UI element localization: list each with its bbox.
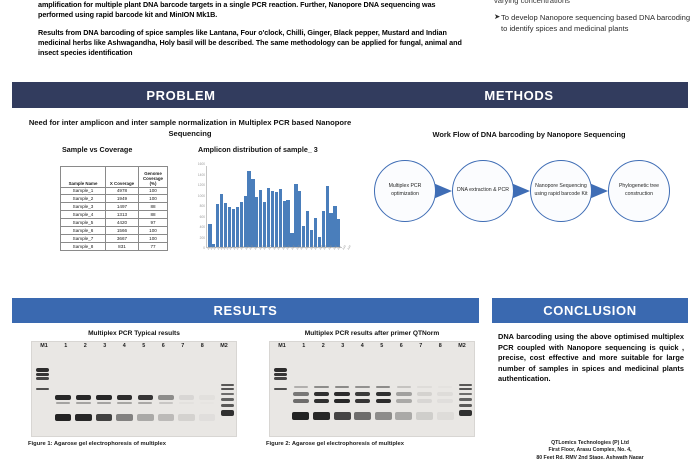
table-cell-name: Sample_2: [61, 195, 106, 203]
chart-bar: [236, 207, 239, 247]
gel-lane-label: M2: [212, 343, 236, 353]
gel-band: [437, 412, 454, 420]
chart-bar: [329, 213, 332, 247]
chart-y-tick: 1200: [198, 183, 205, 187]
gel-band: [438, 386, 452, 388]
gel-image-2: M112345678M2: [269, 341, 475, 437]
table-cell-name: Sample_6: [61, 226, 106, 234]
gel-lane-label: 1: [56, 343, 76, 353]
objectives-list-item: ➤ To develop Nanopore sequencing based D…: [494, 12, 694, 34]
table-cell-xcov: 1949: [106, 195, 139, 203]
chart-bar: [263, 202, 266, 247]
table-row: Sample_4131388: [61, 211, 168, 219]
table-cell-gcov: 100: [139, 187, 168, 195]
gel-lane-label: 6: [154, 343, 174, 353]
chart-bar: [283, 201, 286, 247]
gel-band: [334, 412, 351, 420]
gel-band: [221, 384, 234, 386]
table-row: Sample_21949100: [61, 195, 168, 203]
workflow-node-2: DNA extraction & PCR: [452, 160, 514, 222]
chart-bar: [333, 206, 336, 247]
gel-band: [117, 395, 132, 400]
gel-band: [75, 414, 91, 421]
chart-bar: [337, 219, 340, 247]
table-cell-xcov: 4420: [106, 219, 139, 227]
gel-band: [221, 393, 234, 395]
chart-y-tick: 1600: [198, 162, 205, 166]
gel-caption-1: Figure 1: Agarose gel electrophoresis of…: [28, 441, 246, 449]
gel-band: [397, 386, 411, 388]
table-cell-name: Sample_7: [61, 234, 106, 242]
gel-band: [55, 414, 71, 421]
section-header-methods: METHODS: [350, 88, 688, 103]
table-cell-name: Sample_4: [61, 211, 106, 219]
gel-band: [294, 386, 308, 388]
gel-band: [376, 392, 391, 396]
gel-band: [292, 412, 309, 420]
gcov-line-3: (%): [150, 181, 157, 186]
chart-y-tick: 200: [200, 236, 205, 240]
gel-band: [395, 412, 412, 420]
arrow-bullet-icon: ➤: [494, 12, 500, 23]
table-row: Sample_61566100: [61, 226, 168, 234]
organization-address: QTLomics Technologies (P) Ltd First Floo…: [492, 440, 688, 459]
gel-band: [158, 395, 173, 400]
gel-band: [221, 404, 234, 407]
table-cell-xcov: 4978: [106, 187, 139, 195]
gel-title-2: Multiplex PCR results after primer QTNor…: [258, 330, 486, 337]
gel-band: [178, 414, 194, 421]
table-cell-gcov: 100: [139, 226, 168, 234]
chart-bar: [286, 200, 289, 247]
table-cell-gcov: 88: [139, 203, 168, 211]
gel-band: [36, 377, 49, 380]
table-cell-name: Sample_3: [61, 203, 106, 211]
chart-bar: [228, 207, 231, 247]
col-header-sample-name: Sample Name: [61, 167, 106, 188]
chart-bar: [267, 188, 270, 247]
gel-lane-label: 8: [193, 343, 213, 353]
gel-band: [313, 412, 330, 420]
gel-band: [355, 386, 369, 388]
gel-band: [158, 414, 174, 421]
gel-band: [417, 392, 432, 396]
methods-title: Work Flow of DNA barcoding by Nanopore S…: [368, 130, 690, 139]
top-abstract-row: amplification for multiple plant DNA bar…: [0, 0, 700, 78]
gel-band: [376, 386, 390, 388]
gel-band: [96, 414, 112, 421]
table-cell-gcov: 88: [139, 211, 168, 219]
section-header-conclusion: CONCLUSION: [492, 298, 688, 323]
chart-y-tick: 1400: [198, 173, 205, 177]
gel-band: [116, 414, 132, 421]
gel-band: [199, 414, 215, 421]
gel-band: [355, 392, 370, 396]
chart-bar: [240, 202, 243, 247]
gel-caption-2: Figure 2: Agarose gel electrophoresis of…: [266, 441, 484, 449]
gel-band: [36, 368, 49, 372]
gel-lane-labels-1: M112345678M2: [32, 343, 236, 353]
col-header-x-coverage: X Coverage: [106, 167, 139, 188]
workflow-diagram: Multiplex PCR optimization DNA extractio…: [370, 156, 688, 230]
chart-bar: [224, 203, 227, 247]
chart-y-axis: 02004006008001000120014001600: [192, 164, 205, 248]
problem-title: Need for inter amplicon and inter sample…: [20, 118, 360, 139]
gel-band: [417, 386, 431, 388]
gel-band: [36, 373, 49, 376]
coverage-table: Sample Name X Coverage Genome Coverage (…: [60, 166, 168, 251]
gel-band: [459, 404, 472, 407]
gel-band: [76, 402, 90, 404]
gel-band: [97, 402, 111, 404]
chart-subtitle: Amplicon distribution of sample_ 3: [198, 145, 318, 154]
chart-plot-area: [206, 166, 342, 248]
gel-band: [437, 392, 452, 396]
abstract-block: amplification for multiple plant DNA bar…: [38, 0, 463, 66]
table-row: Sample_5442097: [61, 219, 168, 227]
chart-bar: [208, 224, 211, 247]
chart-bar: [255, 197, 258, 247]
gel-lane-label: 1: [294, 343, 314, 353]
table-cell-gcov: 100: [139, 195, 168, 203]
gel-lane-label: 2: [76, 343, 96, 353]
chart-bar: [216, 204, 219, 247]
chart-y-tick: 800: [200, 204, 205, 208]
table-subtitle: Sample vs Coverage: [62, 145, 132, 154]
gel-band: [375, 412, 392, 420]
chart-bar: [251, 179, 254, 247]
table-cell-name: Sample_8: [61, 242, 106, 250]
gel-band: [55, 395, 70, 400]
gel-band: [334, 392, 349, 396]
gel-band: [274, 368, 287, 372]
gel-band: [459, 410, 472, 416]
gel-band: [459, 388, 472, 390]
gel-lane-label: 4: [115, 343, 135, 353]
chart-bar: [279, 189, 282, 247]
gel-lane-label: 5: [134, 343, 154, 353]
chart-bar: [247, 171, 250, 248]
chart-y-tick: 0: [203, 246, 205, 250]
table-cell-xcov: 831: [106, 242, 139, 250]
gel-band: [179, 395, 194, 400]
gel-band: [314, 392, 329, 396]
gel-band: [459, 384, 472, 386]
gel-band: [138, 402, 152, 404]
gel-lane-label: 3: [95, 343, 115, 353]
gel-band: [293, 392, 308, 396]
gel-band: [293, 399, 308, 403]
problem-panel: Need for inter amplicon and inter sample…: [20, 118, 360, 273]
section-band-problem-methods: PROBLEM METHODS: [12, 82, 688, 108]
methods-panel: Work Flow of DNA barcoding by Nanopore S…: [368, 118, 690, 273]
chart-bar: [314, 218, 317, 247]
table-row: Sample_883177: [61, 242, 168, 250]
chart-bar: [220, 194, 223, 247]
table-cell-gcov: 97: [139, 219, 168, 227]
gel-image-1: M112345678M2: [31, 341, 237, 437]
conclusion-text: DNA barcoding using the above optimised …: [492, 332, 688, 385]
gel-band: [274, 373, 287, 376]
table-row: Sample_73667100: [61, 234, 168, 242]
gel-band: [335, 386, 349, 388]
gel-lane-label: 7: [411, 343, 431, 353]
gel-band: [376, 399, 391, 403]
gel-band: [396, 399, 411, 403]
address-line-2: First Floor, Arasu Complex, No. 4,: [492, 447, 688, 454]
objectives-block: varying concentrations ➤ To develop Nano…: [494, 0, 694, 34]
gel-band: [137, 414, 153, 421]
gel-lane-label: 5: [372, 343, 392, 353]
chart-y-tick: 1000: [198, 194, 205, 198]
section-header-problem: PROBLEM: [12, 88, 350, 103]
table-header-row: Sample Name X Coverage Genome Coverage (…: [61, 167, 168, 188]
chart-bar: [271, 191, 274, 247]
workflow-node-1: Multiplex PCR optimization: [374, 160, 436, 222]
gel-band: [36, 388, 49, 390]
workflow-node-4: Phylogenetic tree construction: [608, 160, 670, 222]
table-cell-xcov: 1313: [106, 211, 139, 219]
gel-band: [459, 398, 472, 401]
address-line-1: QTLomics Technologies (P) Ltd: [492, 440, 688, 447]
chart-bar: [275, 192, 278, 247]
chart-bar: [244, 196, 247, 247]
workflow-node-3: Nanopore Sequencing using rapid barcode …: [530, 160, 592, 222]
gel-band: [221, 410, 234, 416]
gel-band: [117, 402, 131, 404]
chart-bar: [294, 184, 297, 247]
gel-band: [459, 393, 472, 395]
gel-band: [138, 395, 153, 400]
chart-bar: [232, 209, 235, 247]
chart-x-axis: A1A2A3A4A5A6A7A8A9A10A11A12A13A14A15A16A…: [207, 248, 342, 272]
chart-bar: [298, 191, 301, 247]
gel-band: [354, 412, 371, 420]
gel-band: [314, 386, 328, 388]
table-cell-name: Sample_5: [61, 219, 106, 227]
gel-lane-label: M2: [450, 343, 474, 353]
conclusion-panel: DNA barcoding using the above optimised …: [492, 332, 688, 385]
section-header-results: RESULTS: [12, 298, 479, 323]
gel-band: [179, 402, 193, 404]
gel-lane-label: M1: [32, 343, 56, 353]
gel-lane-label: 3: [333, 343, 353, 353]
gel-band: [274, 388, 287, 390]
gel-band: [314, 399, 329, 403]
gel-band: [274, 377, 287, 380]
col-header-genome-coverage: Genome Coverage (%): [139, 167, 168, 188]
gel-lane-label: 2: [314, 343, 334, 353]
gel-band: [334, 399, 349, 403]
objectives-item-text: To develop Nanopore sequencing based DNA…: [501, 13, 690, 33]
chart-bar: [326, 186, 329, 247]
address-line-3: 80 Feet Rd, RMV 2nd Stage, Ashwath Nagar: [492, 455, 688, 459]
gel-figure-1: Multiplex PCR Typical results M112345678…: [20, 330, 248, 449]
table-cell-gcov: 77: [139, 242, 168, 250]
gel-lane-label: 8: [431, 343, 451, 353]
gel-lane-label: 6: [392, 343, 412, 353]
coverage-table-head: Sample Name X Coverage Genome Coverage (…: [61, 167, 168, 188]
gel-band: [396, 392, 411, 396]
table-cell-xcov: 3667: [106, 234, 139, 242]
gel-lane-label: 7: [173, 343, 193, 353]
gel-band: [56, 402, 70, 404]
gel-lane-label: 4: [353, 343, 373, 353]
gel-band: [221, 388, 234, 390]
abstract-paragraph-1: amplification for multiple plant DNA bar…: [38, 0, 463, 20]
table-row: Sample_3149788: [61, 203, 168, 211]
gel-lane-label: M1: [270, 343, 294, 353]
table-cell-xcov: 1497: [106, 203, 139, 211]
gel-title-1: Multiplex PCR Typical results: [20, 330, 248, 337]
gel-band: [437, 399, 452, 403]
problem-subtitles: Sample vs Coverage Amplicon distribution…: [20, 145, 360, 157]
abstract-paragraph-2: Results from DNA barcoding of spice samp…: [38, 28, 463, 58]
chart-y-tick: 600: [200, 215, 205, 219]
table-row: Sample_14978100: [61, 187, 168, 195]
objectives-clipped-line: varying concentrations: [494, 0, 694, 5]
gel-band: [200, 402, 214, 404]
chart-y-tick: 400: [200, 225, 205, 229]
gel-figure-2: Multiplex PCR results after primer QTNor…: [258, 330, 486, 449]
table-cell-name: Sample_1: [61, 187, 106, 195]
gel-band: [76, 395, 91, 400]
gel-band: [221, 398, 234, 401]
gel-band: [96, 395, 111, 400]
chart-bar: [306, 211, 309, 247]
coverage-table-body: Sample_14978100Sample_21949100Sample_314…: [61, 187, 168, 250]
table-cell-gcov: 100: [139, 234, 168, 242]
table-cell-xcov: 1566: [106, 226, 139, 234]
chart-bar: [322, 211, 325, 247]
gel-band: [159, 402, 173, 404]
amplicon-bar-chart: 02004006008001000120014001600 A1A2A3A4A5…: [192, 164, 342, 272]
gel-band: [416, 412, 433, 420]
chart-bar: [259, 190, 262, 247]
gel-band: [417, 399, 432, 403]
gel-lane-labels-2: M112345678M2: [270, 343, 474, 353]
gel-band: [355, 399, 370, 403]
gel-band: [199, 395, 214, 400]
